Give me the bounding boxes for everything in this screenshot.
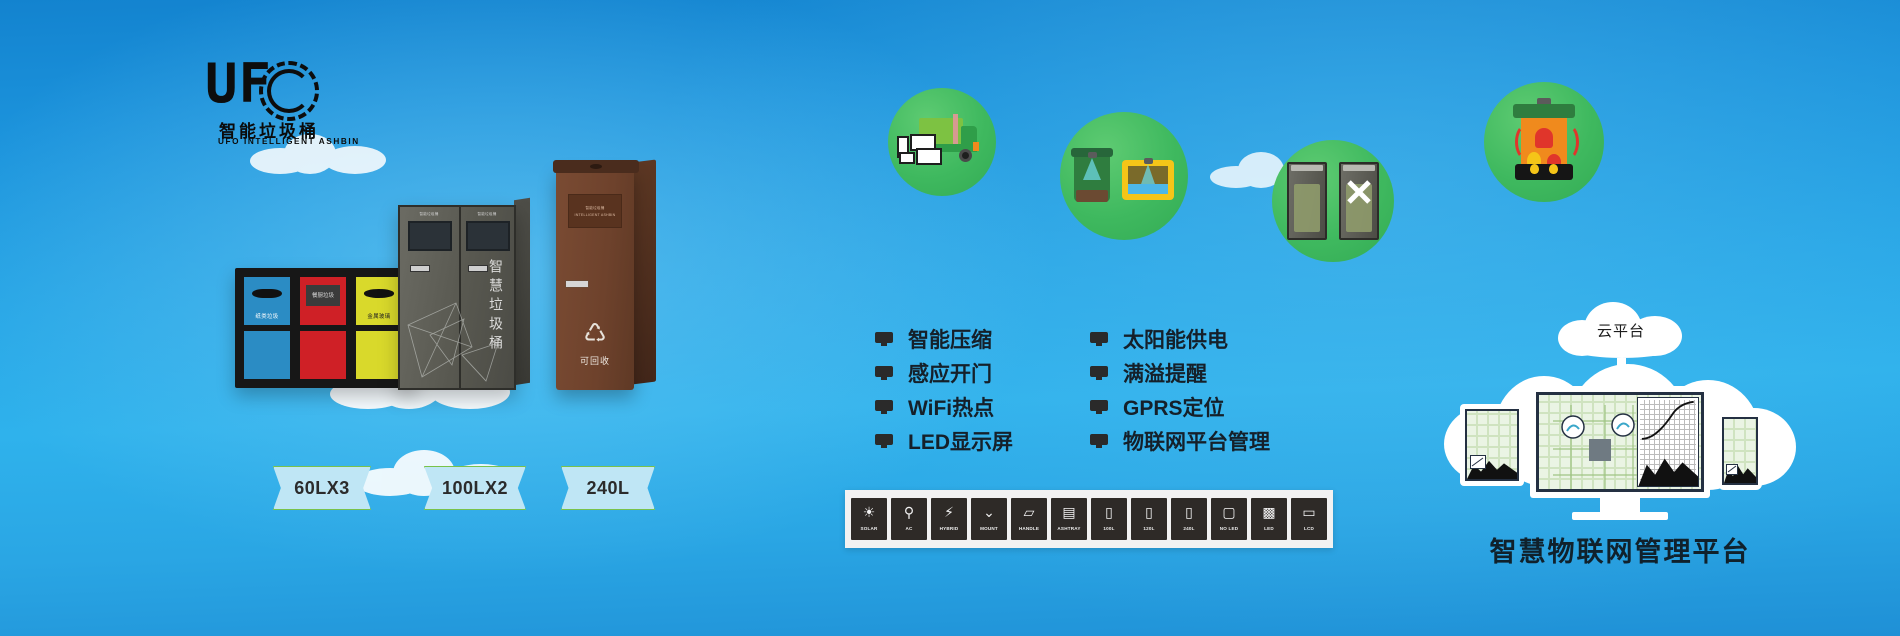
feature-label: 智能压缩 [908,324,992,354]
handle-icon: ▱ [1018,501,1040,523]
bin-compartment-paper: 纸类垃圾 [241,274,293,382]
spec-icon-100l[interactable]: ▯100L [1091,498,1127,540]
feature-list-left: 智能压缩感应开门WiFi热点LED显示屏 [875,322,1013,458]
spec-icon-lcd[interactable]: ▭LCD [1291,498,1327,540]
feature-label: 感应开门 [908,358,992,388]
feature-item: 太阳能供电 [1090,322,1270,356]
led-icon: ▩ [1258,501,1280,523]
tablet-device [1460,404,1524,486]
monitor-bullet-icon [1090,366,1108,380]
feature-item: 物联网平台管理 [1090,424,1270,458]
feature-item: 满溢提醒 [1090,356,1270,390]
capacity-label: 60LX3 [294,478,350,499]
spec-icon-label: AC [905,526,912,531]
recycle-label: 可回收 [556,354,634,367]
feature-item: LED显示屏 [875,424,1013,458]
bin-screen [466,221,510,251]
capacity-banner-100lx2: 100LX2 [424,466,526,510]
spec-icon-hybrid[interactable]: ⚡HYBRID [931,498,967,540]
ac-plug-icon: ⚲ [898,501,920,523]
iot-platform-illustration: 云平台 [1440,300,1800,530]
spec-icon-label: 240L [1183,526,1194,531]
spec-icon-mount[interactable]: ⌄MOUNT [971,498,1007,540]
desktop-monitor [1530,386,1710,498]
feature-item: WiFi热点 [875,390,1013,424]
monitor-bullet-icon [1090,434,1108,448]
bin-side-panel [632,160,656,385]
feature-circle-compaction [1272,140,1394,262]
lcd-icon: ▭ [1298,501,1320,523]
recycle-icon: ♺ [556,320,634,346]
spec-icon-240l[interactable]: ▯240L [1171,498,1207,540]
bin-vertical-text: 智慧垃圾桶 [486,259,506,354]
download-arrow-icon [1610,358,1632,386]
monitor-bullet-icon [1090,400,1108,414]
compartment-label: 纸类垃圾 [244,312,290,320]
feature-label: LED显示屏 [908,426,1013,456]
bin-sensor-icon [590,164,602,169]
bin-screen: 智能垃圾桶 INTELLIGENT ASHBIN [568,194,622,228]
feature-circle-fleet-management [888,88,996,196]
phone-chart-icon [1726,464,1738,475]
fire-alarm-bin-icon [1509,102,1579,182]
bin-side-panel [514,198,530,386]
monitor-chart-panel [1637,397,1699,487]
hybrid-power-icon: ⚡ [938,501,960,523]
monitor-bullet-icon [875,366,893,380]
spec-icon-handle[interactable]: ▱HANDLE [1011,498,1047,540]
feature-label: 太阳能供电 [1123,324,1228,354]
logo-inner-ring-icon [267,69,311,113]
spec-icon-label: HYBRID [940,526,959,531]
compaction-cross-icon [1345,178,1373,212]
spec-icon-strip: ☀SOLAR⚲AC⚡HYBRID⌄MOUNT▱HANDLE▤ASHTRAY▯10… [845,490,1333,548]
monitor-bullet-icon [1090,332,1108,346]
spec-icon-solar[interactable]: ☀SOLAR [851,498,887,540]
capacity-100l-icon: ▯ [1098,501,1120,523]
feature-item: 智能压缩 [875,322,1013,356]
mount-icon: ⌄ [978,501,1000,523]
feature-list-right: 太阳能供电满溢提醒GPRS定位物联网平台管理 [1090,322,1270,458]
product-tri-compartment-bin: 纸类垃圾 餐厨垃圾 金属玻璃 [235,268,415,388]
capacity-banner-60lx3: 60LX3 [273,466,371,510]
capacity-label: 100LX2 [442,478,508,499]
bin-screen-line: INTELLIGENT ASHBIN [575,213,616,217]
growth-curve-icon [1640,400,1696,441]
brand-logo: UF 智能垃圾桶 UFO INTELLIGENT ASHBIN [205,57,310,149]
spec-icon-label: ASHTRAY [1057,526,1080,531]
twin-compactor-bin-icon [1287,162,1379,240]
platform-caption: 智慧物联网管理平台 [1440,530,1800,569]
monitor-bullet-icon [875,434,893,448]
feature-label: 物联网平台管理 [1123,426,1270,456]
compartment-display: 餐厨垃圾 [306,285,341,306]
spec-icon-120l[interactable]: ▯120L [1131,498,1167,540]
poster-canvas: UF 智能垃圾桶 UFO INTELLIGENT ASHBIN 纸类垃圾 餐厨垃… [0,0,1900,636]
product-gray-double-bin: 智能垃圾桶 智能垃圾桶 智慧垃圾桶 [398,205,530,390]
solar-icon: ☀ [858,501,880,523]
compartment-label: 金属玻璃 [356,312,402,320]
cloud-platform-label: 云平台 [1558,320,1684,341]
capacity-label: 240L [586,478,629,499]
bin-slot-icon [252,289,281,297]
spec-icon-led[interactable]: ▩LED [1251,498,1287,540]
spec-icon-label: LED [1264,526,1274,531]
bin-panel-caption: 智能垃圾桶 [408,212,450,218]
feature-item: 感应开门 [875,356,1013,390]
bin-handle [410,265,430,272]
bin-screen [408,221,452,251]
capacity-120l-icon: ▯ [1138,501,1160,523]
monitor-bullet-icon [875,400,893,414]
spec-icon-label: HANDLE [1019,526,1039,531]
no-led-icon: ▢ [1218,501,1240,523]
bin-panel-caption: 智能垃圾桶 [466,212,508,218]
logo-english-name: UFO INTELLIGENT ASHBIN [218,137,360,146]
tablet-chart-icon [1470,455,1486,469]
spec-icon-label: SOLAR [860,526,877,531]
monitor-base [1572,512,1668,520]
bin-screen-line: 智能垃圾桶 [586,206,605,211]
bin-fill-sensor-icon [1074,146,1174,206]
bin-frame: 智能垃圾桶 智能垃圾桶 智慧垃圾桶 [398,205,516,390]
spec-icon-label: MOUNT [980,526,998,531]
feature-circle-fire-alarm [1484,82,1604,202]
spec-icon-ac[interactable]: ⚲AC [891,498,927,540]
capacity-240l-icon: ▯ [1178,501,1200,523]
spec-icon-label: 100L [1103,526,1114,531]
monitor-bullet-icon [875,332,893,346]
cloud-platform-badge: 云平台 [1558,298,1684,360]
spec-icon-label: NO LED [1220,526,1239,531]
spec-icon-ashtray[interactable]: ▤ASHTRAY [1051,498,1087,540]
garbage-truck-icon [903,114,981,170]
feature-item: GPRS定位 [1090,390,1270,424]
feature-label: GPRS定位 [1123,392,1225,422]
capacity-banner-240l: 240L [561,466,655,510]
feature-label: WiFi热点 [908,392,994,422]
product-brown-bin: 智能垃圾桶 INTELLIGENT ASHBIN ♺ 可回收 [556,168,656,390]
phone-device [1718,412,1762,490]
bin-card-reader [565,280,589,288]
spec-icon-no-led[interactable]: ▢NO LED [1211,498,1247,540]
bin-handle [468,265,488,272]
ashtray-icon: ▤ [1058,501,1080,523]
feature-circle-fill-level [1060,112,1188,240]
spec-icon-label: LCD [1304,526,1314,531]
spec-icon-label: 120L [1143,526,1154,531]
bin-compartment-kitchen: 餐厨垃圾 [297,274,349,382]
feature-label: 满溢提醒 [1123,358,1207,388]
